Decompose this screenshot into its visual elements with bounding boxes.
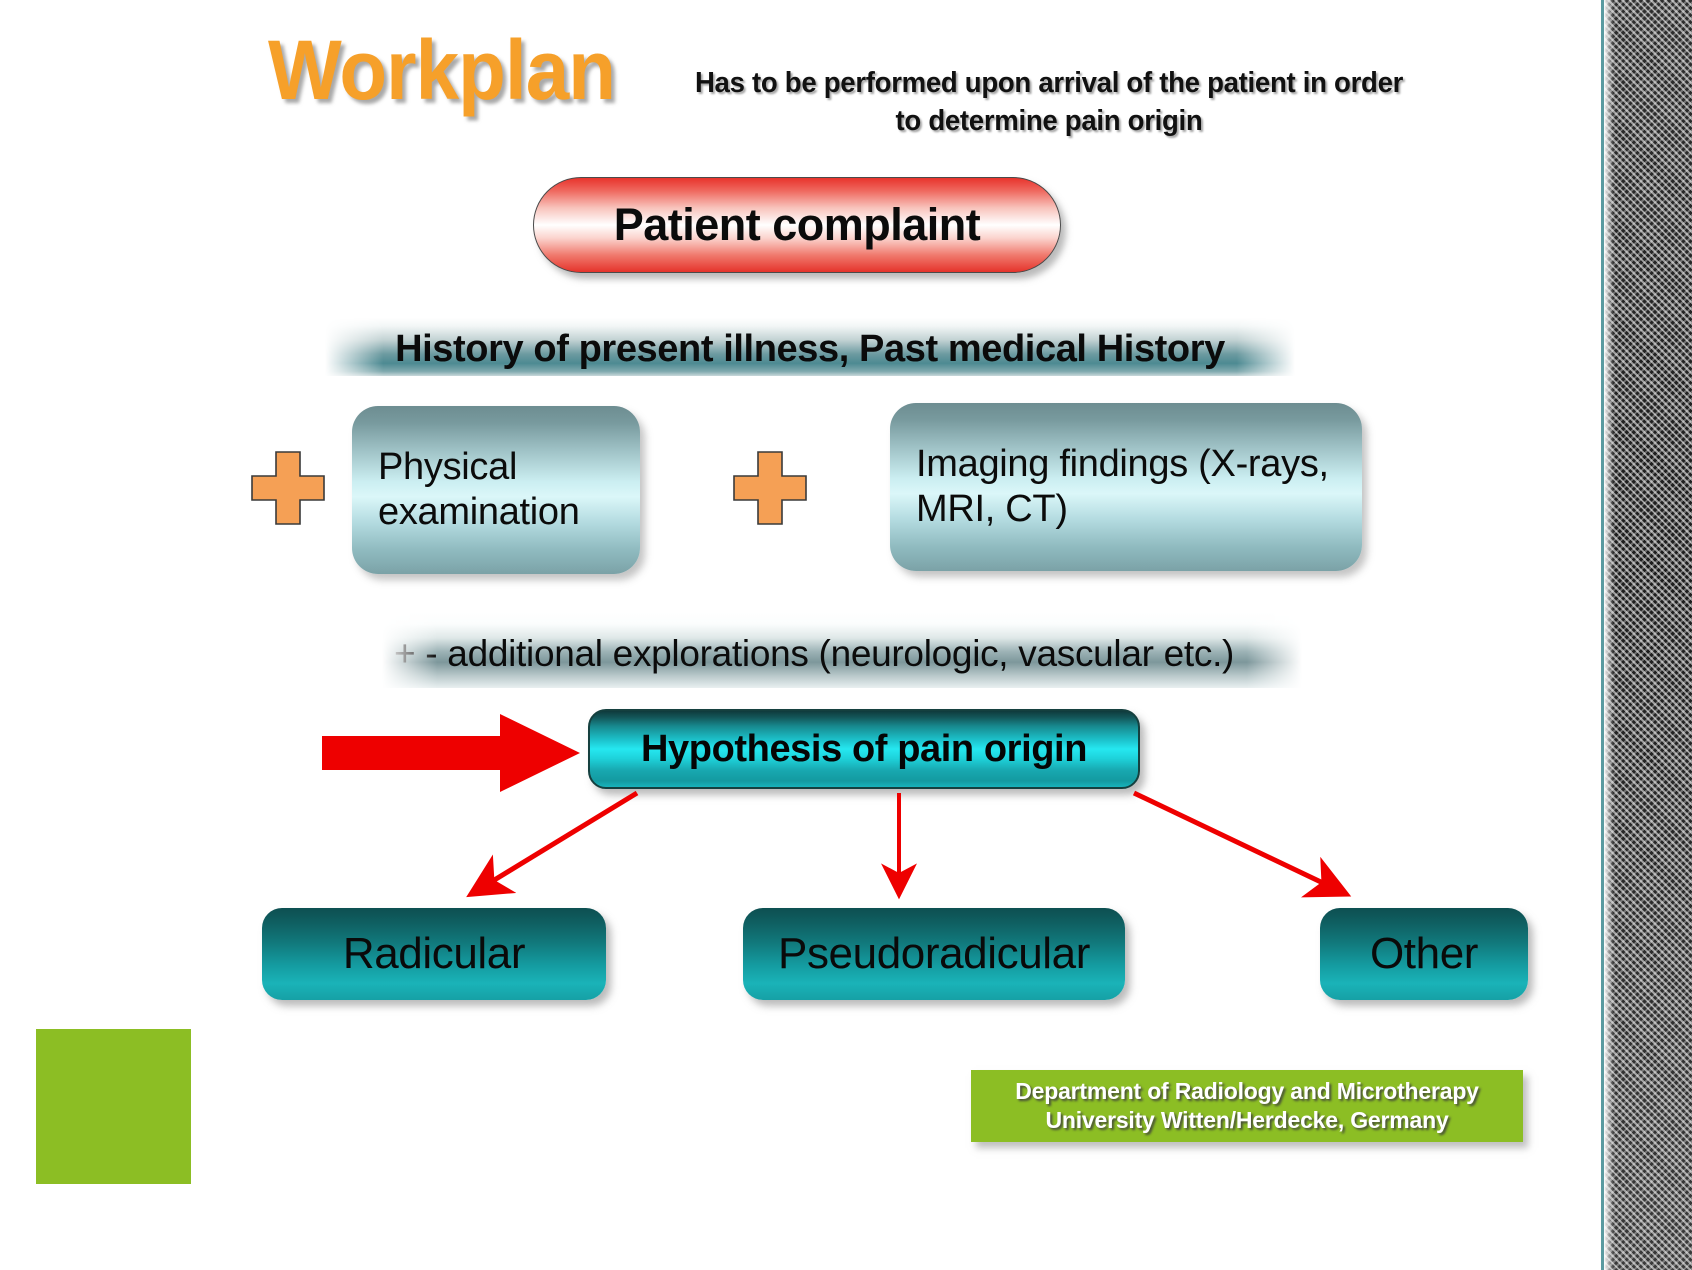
node-radicular-label: Radicular [343,929,525,979]
node-pseudoradicular[interactable]: Pseudoradicular [743,908,1125,1000]
node-other[interactable]: Other [1320,908,1528,1000]
node-patient-complaint[interactable]: Patient complaint [533,177,1061,273]
footer-green-square [36,1029,191,1184]
plus-cross-icon [732,450,808,526]
node-physical-examination-label: Physical examination [378,445,614,535]
plus-cross-icon [250,450,326,526]
node-imaging-findings-label: Imaging findings (X-rays, MRI, CT) [916,442,1336,532]
node-pseudoradicular-label: Pseudoradicular [778,929,1090,979]
banner-additional-explorations: + - additional explorations (neurologic,… [382,612,1302,688]
node-other-label: Other [1370,929,1478,979]
footer-affiliation-badge: Department of Radiology and Microtherapy… [971,1070,1523,1142]
node-physical-examination[interactable]: Physical examination [352,406,640,574]
node-imaging-findings[interactable]: Imaging findings (X-rays, MRI, CT) [890,403,1362,571]
banner-history-label: History of present illness, Past medical… [395,328,1225,371]
page-subtitle: Has to be performed upon arrival of the … [683,64,1415,141]
node-hypothesis-of-pain-origin[interactable]: Hypothesis of pain origin [588,709,1140,789]
slide-right-texture-strip [1604,0,1692,1270]
arrow-hypothesis-to-other [1134,793,1344,893]
banner-additional-explorations-label: + - additional explorations (neurologic,… [394,633,1234,675]
slide-canvas: Workplan Has to be performed upon arriva… [0,0,1692,1270]
node-patient-complaint-label: Patient complaint [614,199,981,251]
node-hypothesis-of-pain-origin-label: Hypothesis of pain origin [641,728,1087,771]
arrow-hypothesis-to-radicular [473,793,637,893]
red-thick-arrow-icon [322,714,580,797]
banner-history: History of present illness, Past medical… [325,318,1295,376]
node-radicular[interactable]: Radicular [262,908,606,1000]
page-title: Workplan [268,28,615,112]
footer-affiliation-line-2: University Witten/Herdecke, Germany [1045,1106,1448,1135]
footer-affiliation-line-1: Department of Radiology and Microtherapy [1015,1077,1479,1106]
